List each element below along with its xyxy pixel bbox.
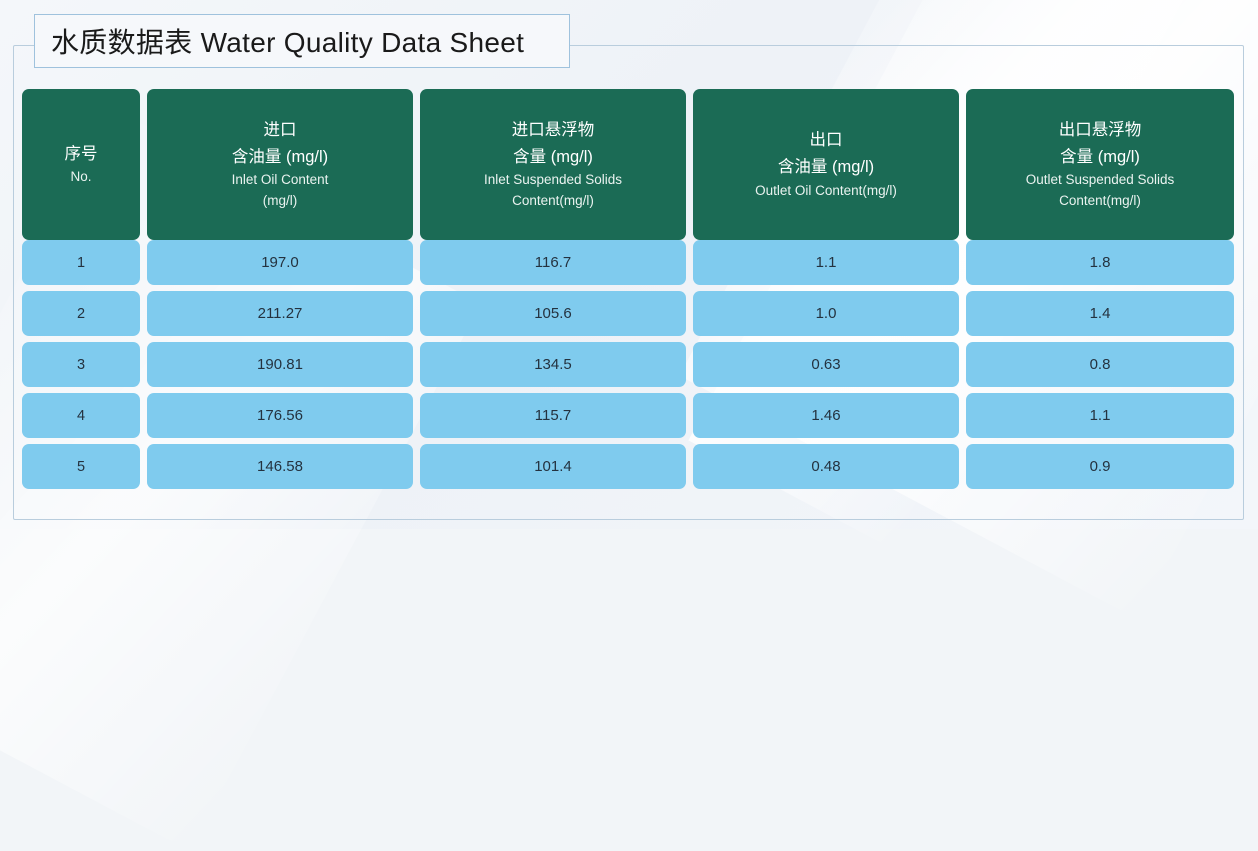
table-row: 4176.56115.71.461.1 <box>22 393 1230 438</box>
cell-row-number: 3 <box>22 342 140 387</box>
table-row: 2211.27105.61.01.4 <box>22 291 1230 336</box>
cell-inlet-suspended-solids: 101.4 <box>420 444 686 489</box>
cell-inlet-suspended-solids: 115.7 <box>420 393 686 438</box>
cell-inlet-oil-content: 176.56 <box>147 393 413 438</box>
column-header-cn-line: 出口悬浮物 <box>1059 117 1142 144</box>
column-header-en-line: Content(mg/l) <box>512 191 594 212</box>
column-header-en-line: (mg/l) <box>263 191 298 212</box>
cell-inlet-suspended-solids: 116.7 <box>420 240 686 285</box>
column-header-en-line: Outlet Oil Content(mg/l) <box>755 181 897 202</box>
column-header-outlet-suspended-solids: 出口悬浮物含量 (mg/l)Outlet Suspended SolidsCon… <box>966 89 1234 240</box>
cell-row-number: 1 <box>22 240 140 285</box>
column-header-no: 序号No. <box>22 89 140 240</box>
title-box: 水质数据表 Water Quality Data Sheet <box>34 14 570 68</box>
cell-outlet-suspended-solids: 0.8 <box>966 342 1234 387</box>
cell-inlet-suspended-solids: 105.6 <box>420 291 686 336</box>
cell-inlet-oil-content: 146.58 <box>147 444 413 489</box>
column-header-cn-line: 含量 (mg/l) <box>513 144 593 171</box>
cell-inlet-suspended-solids: 134.5 <box>420 342 686 387</box>
cell-outlet-suspended-solids: 1.8 <box>966 240 1234 285</box>
cell-outlet-oil-content: 1.0 <box>693 291 959 336</box>
column-header-inlet-suspended-solids: 进口悬浮物含量 (mg/l)Inlet Suspended SolidsCont… <box>420 89 686 240</box>
cell-inlet-oil-content: 190.81 <box>147 342 413 387</box>
column-header-en-line: Inlet Suspended Solids <box>484 170 622 191</box>
cell-outlet-suspended-solids: 1.1 <box>966 393 1234 438</box>
column-header-cn-line: 序号 <box>65 141 98 168</box>
cell-outlet-suspended-solids: 0.9 <box>966 444 1234 489</box>
column-header-cn-line: 含量 (mg/l) <box>1060 144 1140 171</box>
column-header-cn-line: 含油量 (mg/l) <box>232 144 328 171</box>
column-header-en-line: No. <box>70 167 91 188</box>
column-header-en-line: Content(mg/l) <box>1059 191 1141 212</box>
table-body: 1197.0116.71.11.82211.27105.61.01.43190.… <box>22 240 1230 489</box>
cell-inlet-oil-content: 197.0 <box>147 240 413 285</box>
page-title: 水质数据表 Water Quality Data Sheet <box>51 21 524 61</box>
water-quality-table: 序号No.进口含油量 (mg/l)Inlet Oil Content(mg/l)… <box>22 89 1230 489</box>
column-header-en-line: Outlet Suspended Solids <box>1026 170 1175 191</box>
cell-row-number: 2 <box>22 291 140 336</box>
column-header-cn-line: 出口 <box>810 127 843 154</box>
column-header-cn-line: 进口 <box>264 117 297 144</box>
cell-row-number: 4 <box>22 393 140 438</box>
cell-outlet-suspended-solids: 1.4 <box>966 291 1234 336</box>
cell-outlet-oil-content: 1.1 <box>693 240 959 285</box>
column-header-cn-line: 进口悬浮物 <box>512 117 595 144</box>
cell-row-number: 5 <box>22 444 140 489</box>
table-row: 1197.0116.71.11.8 <box>22 240 1230 285</box>
table-row: 5146.58101.40.480.9 <box>22 444 1230 489</box>
column-header-outlet-oil-content: 出口含油量 (mg/l)Outlet Oil Content(mg/l) <box>693 89 959 240</box>
column-header-inlet-oil-content: 进口含油量 (mg/l)Inlet Oil Content(mg/l) <box>147 89 413 240</box>
cell-inlet-oil-content: 211.27 <box>147 291 413 336</box>
cell-outlet-oil-content: 0.63 <box>693 342 959 387</box>
table-row: 3190.81134.50.630.8 <box>22 342 1230 387</box>
column-header-cn-line: 含油量 (mg/l) <box>778 154 874 181</box>
table-header-row: 序号No.进口含油量 (mg/l)Inlet Oil Content(mg/l)… <box>22 89 1230 240</box>
cell-outlet-oil-content: 0.48 <box>693 444 959 489</box>
cell-outlet-oil-content: 1.46 <box>693 393 959 438</box>
column-header-en-line: Inlet Oil Content <box>232 170 329 191</box>
